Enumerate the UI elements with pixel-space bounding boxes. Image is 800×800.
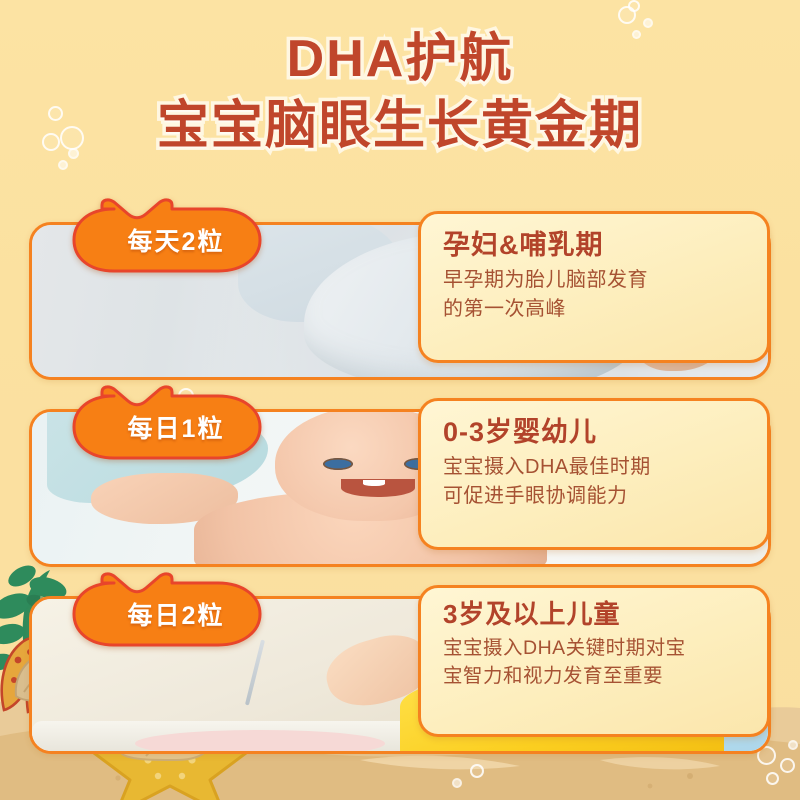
bubble-icon bbox=[788, 740, 798, 750]
dosage-badge-2[interactable]: 每日1粒 bbox=[70, 384, 266, 470]
bubble-icon bbox=[618, 6, 636, 24]
stage-heading-2: 0-3岁婴幼儿 bbox=[443, 415, 749, 449]
stage-body-line2-2: 可促进手眼协调能力 bbox=[443, 482, 749, 511]
bubble-icon bbox=[628, 0, 640, 12]
stage-text-panel-3: 3岁及以上儿童 宝宝摄入DHA关键时期对宝 宝智力和视力发育至重要 bbox=[418, 585, 770, 737]
photo-tooth-shape bbox=[363, 480, 385, 486]
bubble-icon bbox=[766, 772, 779, 785]
bubble-icon bbox=[643, 18, 653, 28]
photo-eye-left bbox=[323, 458, 353, 470]
photo-plate-shape bbox=[135, 730, 385, 751]
dosage-badge-label-1: 每天2粒 bbox=[70, 197, 266, 283]
page-header: DHA护航 宝宝脑眼生长黄金期 bbox=[0, 28, 800, 158]
stage-text-panel-2: 0-3岁婴幼儿 宝宝摄入DHA最佳时期 可促进手眼协调能力 bbox=[418, 398, 770, 550]
bubble-icon bbox=[780, 758, 795, 773]
stage-card-child[interactable]: 每日2粒 3岁及以上儿童 宝宝摄入DHA关键时期对宝 宝智力和视力发育至重要 bbox=[29, 596, 771, 754]
bubble-icon bbox=[452, 778, 462, 788]
stage-text-panel-1: 孕妇&哺乳期 早孕期为胎儿脑部发育 的第一次高峰 bbox=[418, 211, 770, 363]
stage-body-line1-1: 早孕期为胎儿脑部发育 bbox=[443, 266, 749, 295]
stage-card-infant[interactable]: 每日1粒 0-3岁婴幼儿 宝宝摄入DHA最佳时期 可促进手眼协调能力 bbox=[29, 409, 771, 567]
page-title-line1: DHA护航 bbox=[0, 28, 800, 90]
bubble-icon bbox=[58, 160, 68, 170]
bubble-icon bbox=[470, 764, 484, 778]
dosage-badge-3[interactable]: 每日2粒 bbox=[70, 571, 266, 657]
dosage-badge-label-3: 每日2粒 bbox=[70, 571, 266, 657]
page-title-line2: 宝宝脑眼生长黄金期 bbox=[0, 94, 800, 158]
stage-heading-1: 孕妇&哺乳期 bbox=[443, 228, 749, 262]
promo-banner: DHA护航 宝宝脑眼生长黄金期 每天2粒 孕妇&哺乳期 早孕期为胎儿脑部发育 的… bbox=[0, 0, 800, 800]
dosage-badge-1[interactable]: 每天2粒 bbox=[70, 197, 266, 283]
stage-body-line2-3: 宝智力和视力发育至重要 bbox=[443, 662, 749, 690]
stage-body-line1-2: 宝宝摄入DHA最佳时期 bbox=[443, 453, 749, 482]
stage-card-pregnancy[interactable]: 每天2粒 孕妇&哺乳期 早孕期为胎儿脑部发育 的第一次高峰 bbox=[29, 222, 771, 380]
stage-heading-3: 3岁及以上儿童 bbox=[443, 598, 749, 630]
stage-body-line2-1: 的第一次高峰 bbox=[443, 295, 749, 324]
stage-body-line1-3: 宝宝摄入DHA关键时期对宝 bbox=[443, 634, 749, 662]
dosage-badge-label-2: 每日1粒 bbox=[70, 384, 266, 470]
